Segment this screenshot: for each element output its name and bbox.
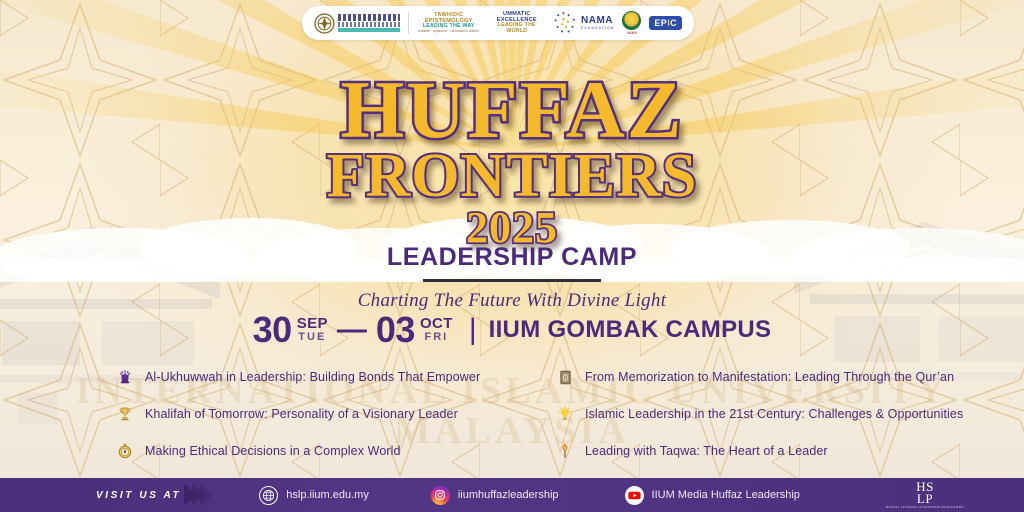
- topic-label: Khalifah of Tomorrow: Personality of a V…: [145, 407, 458, 421]
- iiakn-badge-icon: [622, 11, 641, 30]
- topic-label: Leading with Taqwa: The Heart of a Leade…: [585, 444, 828, 458]
- venue-name: IIUM GOMBAK CAMPUS: [489, 316, 772, 344]
- iiakn-logo: IIAKN: [622, 11, 641, 35]
- epic-logo: EPIC: [649, 16, 682, 30]
- quran-book-icon: [556, 366, 574, 388]
- website-label: hslp.iium.edu.my: [286, 489, 369, 501]
- start-month-block: SEP TUE: [297, 316, 328, 343]
- list-item: Making Ethical Decisions in a Complex Wo…: [116, 436, 556, 466]
- youtube-label: IIUM Media Huffaz Leadership: [652, 489, 800, 501]
- list-item: Islamic Leadership in the 21st Century: …: [556, 399, 996, 429]
- iium-logo: [314, 13, 400, 34]
- compass-icon: [116, 440, 134, 462]
- tawhidic-tagline: TAWHIDIC EPISTEMOLOGY LEADING THE WAY kh…: [417, 13, 481, 34]
- handshake-icon: [116, 366, 134, 388]
- start-month: SEP: [297, 316, 328, 332]
- instagram-icon: [431, 486, 450, 505]
- hslp-line-2: LP: [886, 493, 964, 505]
- topic-column-left: Al-Ukhuwwah in Leadership: Building Bond…: [28, 362, 556, 466]
- epic-text-post: C: [670, 18, 677, 28]
- subtitle-divider: [423, 279, 601, 282]
- nama-foundation-logo: NAMA FOUNDATION: [553, 11, 614, 35]
- list-item: Al-Ukhuwwah in Leadership: Building Bond…: [116, 362, 556, 392]
- torch-icon: [556, 440, 574, 462]
- end-month: OCT: [420, 316, 453, 332]
- date-dash: —: [337, 313, 367, 347]
- date-venue-separator: |: [469, 313, 477, 347]
- topic-list: Al-Ukhuwwah in Leadership: Building Bond…: [0, 362, 1024, 466]
- date-venue-line: 30 SEP TUE — 03 OCT FRI | IIUM GOMBAK CA…: [0, 312, 1024, 348]
- iium-wordmark: [338, 14, 400, 32]
- end-day: 03: [376, 312, 415, 348]
- poster-title: HUFFAZ FRONTIERS 2025: [0, 72, 1024, 250]
- end-month-block: OCT FRI: [420, 316, 453, 343]
- sponsor-logo-bar: TAWHIDIC EPISTEMOLOGY LEADING THE WAY kh…: [302, 6, 694, 40]
- topic-label: From Memorization to Manifestation: Lead…: [585, 370, 954, 384]
- hslp-tagline: HUFFAZ STUDENT LEADERSHIP PROGRAMME: [886, 507, 964, 510]
- end-weekday: FRI: [425, 332, 449, 344]
- subtitle-block: LEADERSHIP CAMP Charting The Future With…: [0, 243, 1024, 312]
- ummatic-tagline: UMMATIC EXCELLENCE LEADING THE WORLD: [489, 12, 545, 35]
- title-line-huffaz: HUFFAZ: [0, 72, 1024, 147]
- visit-us-label: VISIT US AT: [96, 490, 181, 501]
- nama-wordmark: NAMA FOUNDATION: [581, 16, 614, 30]
- start-day: 30: [253, 312, 292, 348]
- leadership-camp-heading: LEADERSHIP CAMP: [0, 243, 1024, 272]
- list-item: Khalifah of Tomorrow: Personality of a V…: [116, 399, 556, 429]
- instagram-label: iiumhuffazleadership: [458, 489, 559, 501]
- event-tagline: Charting The Future With Divine Light: [0, 290, 1024, 312]
- logo-divider: [408, 12, 409, 34]
- youtube-link[interactable]: IIUM Media Huffaz Leadership: [625, 486, 800, 505]
- instagram-link[interactable]: iiumhuffazleadership: [431, 486, 559, 505]
- footer-bar: VISIT US AT hslp.iium.edu.my: [0, 478, 1024, 512]
- visit-us-block: VISIT US AT: [96, 484, 213, 506]
- chevron-arrows-icon: [189, 484, 213, 506]
- hslp-logo: HS LP HUFFAZ STUDENT LEADERSHIP PROGRAMM…: [886, 481, 964, 509]
- topic-label: Al-Ukhuwwah in Leadership: Building Bond…: [145, 370, 480, 384]
- iium-crest-icon: [314, 13, 335, 34]
- website-link[interactable]: hslp.iium.edu.my: [259, 486, 369, 505]
- topic-column-right: From Memorization to Manifestation: Lead…: [556, 362, 996, 466]
- epic-text-pre: EP: [654, 18, 667, 28]
- topic-label: Islamic Leadership in the 21st Century: …: [585, 407, 963, 421]
- start-weekday: TUE: [298, 332, 326, 344]
- event-poster: INTERNATIONAL ISLAMIC UNIVERSITY MALAYSI…: [0, 0, 1024, 512]
- trophy-icon: [116, 403, 134, 425]
- list-item: From Memorization to Manifestation: Lead…: [556, 362, 996, 392]
- title-line-frontiers: FRONTIERS: [0, 147, 1024, 206]
- youtube-icon: [625, 486, 644, 505]
- topic-label: Making Ethical Decisions in a Complex Wo…: [145, 444, 401, 458]
- globe-icon: [259, 486, 278, 505]
- nama-dots-icon: [553, 11, 579, 35]
- list-item: Leading with Taqwa: The Heart of a Leade…: [556, 436, 996, 466]
- lightbulb-icon: [556, 403, 574, 425]
